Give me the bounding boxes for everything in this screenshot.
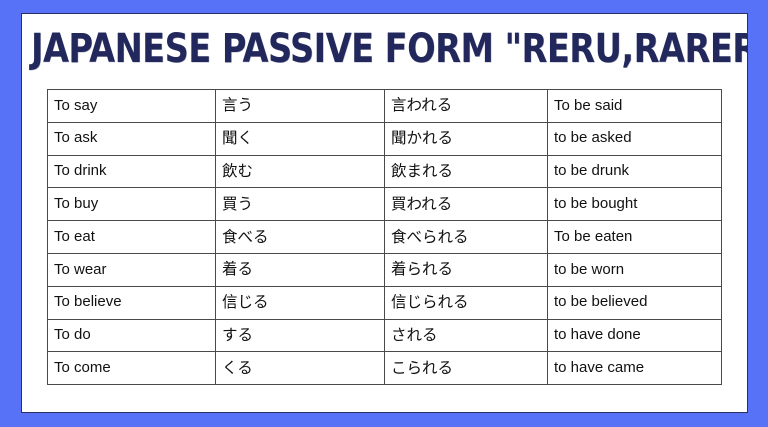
table-row: To believe 信じる 信じられる to be believed [48,286,722,319]
table-row: To drink 飲む 飲まれる to be drunk [48,155,722,188]
cell-dictionary-form: 買う [216,188,385,221]
table-row: To ask 聞く 聞かれる to be asked [48,122,722,155]
cell-passive-form: 飲まれる [385,155,548,188]
cell-passive-meaning: To be eaten [548,221,722,254]
table-row: To wear 着る 着られる to be worn [48,253,722,286]
cell-dictionary-form: 信じる [216,286,385,319]
cell-dictionary-form: 飲む [216,155,385,188]
cell-passive-meaning: to be believed [548,286,722,319]
cell-dictionary-form: 言う [216,90,385,123]
cell-verb-english: To ask [48,122,216,155]
white-content-card: JAPANESE PASSIVE FORM "RERU,RARERU" To s… [21,13,748,413]
table-row: To buy 買う 買われる to be bought [48,188,722,221]
cell-verb-english: To do [48,319,216,352]
table-row: To eat 食べる 食べられる To be eaten [48,221,722,254]
cell-verb-english: To believe [48,286,216,319]
cell-passive-form: こられる [385,352,548,385]
cell-passive-form: 食べられる [385,221,548,254]
cell-verb-english: To say [48,90,216,123]
cell-dictionary-form: 食べる [216,221,385,254]
cell-passive-meaning: To be said [548,90,722,123]
cell-passive-meaning: to have came [548,352,722,385]
cell-passive-form: 言われる [385,90,548,123]
cell-verb-english: To drink [48,155,216,188]
cell-verb-english: To come [48,352,216,385]
cell-verb-english: To wear [48,253,216,286]
cell-dictionary-form: 着る [216,253,385,286]
page-title: JAPANESE PASSIVE FORM "RERU,RARERU" [31,23,700,75]
cell-passive-meaning: to be worn [548,253,722,286]
cell-passive-form: 買われる [385,188,548,221]
cell-passive-form: される [385,319,548,352]
cell-passive-form: 着られる [385,253,548,286]
cell-dictionary-form: する [216,319,385,352]
cell-passive-form: 聞かれる [385,122,548,155]
cell-passive-meaning: to be bought [548,188,722,221]
table-row: To do する される to have done [48,319,722,352]
cell-verb-english: To eat [48,221,216,254]
cell-passive-meaning: to be asked [548,122,722,155]
cell-passive-meaning: to have done [548,319,722,352]
poster-canvas: JAPANESE PASSIVE FORM "RERU,RARERU" To s… [0,0,768,427]
passive-form-table: To say 言う 言われる To be said To ask 聞く 聞かれる… [47,89,722,385]
cell-dictionary-form: 聞く [216,122,385,155]
table-row: To come くる こられる to have came [48,352,722,385]
table-body: To say 言う 言われる To be said To ask 聞く 聞かれる… [48,90,722,385]
cell-passive-meaning: to be drunk [548,155,722,188]
cell-verb-english: To buy [48,188,216,221]
cell-passive-form: 信じられる [385,286,548,319]
table-row: To say 言う 言われる To be said [48,90,722,123]
cell-dictionary-form: くる [216,352,385,385]
